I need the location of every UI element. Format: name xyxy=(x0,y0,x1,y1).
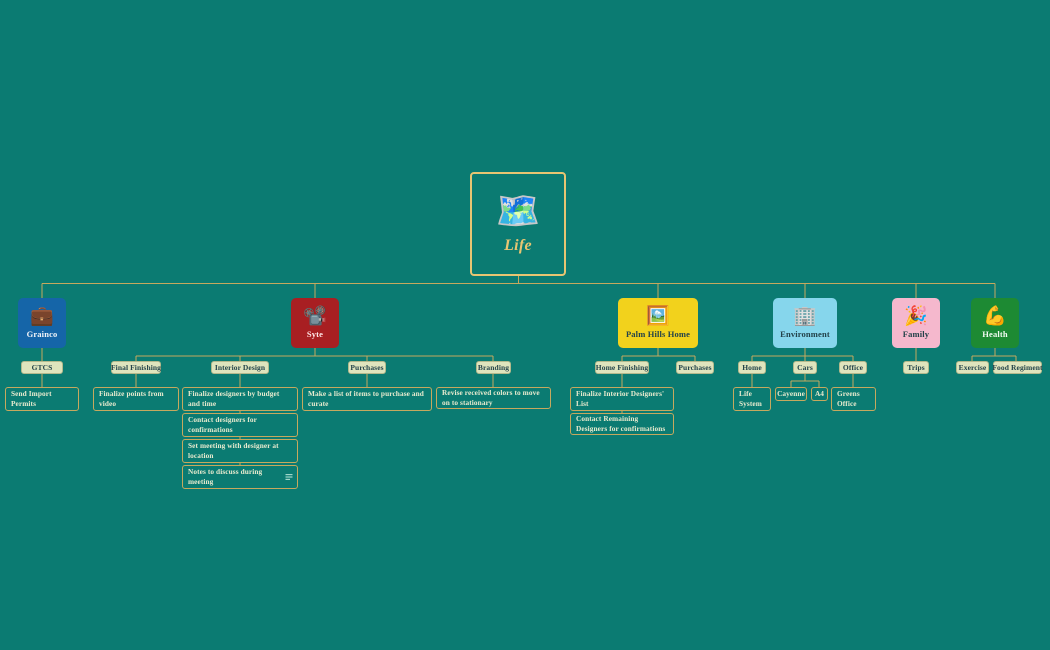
sub-node-home-finishing[interactable]: Home Finishing xyxy=(595,361,649,374)
branch-label: Palm Hills Home xyxy=(626,329,690,339)
leaf-node-make-list-items-purchase[interactable]: Make a list of items to purchase and cur… xyxy=(302,387,432,411)
sub-node-label: Food Regiment xyxy=(992,363,1042,372)
leaf-node-a4[interactable]: A4 xyxy=(811,387,828,401)
world-map-icon: 🗺️ xyxy=(496,193,541,229)
sub-node-label: Trips xyxy=(907,363,924,372)
root-node-life[interactable]: 🗺️ Life xyxy=(470,172,566,276)
sub-node-gtcs[interactable]: GTCS xyxy=(21,361,63,374)
branch-label: Grainco xyxy=(27,329,58,339)
sub-node-label: Office xyxy=(843,363,863,372)
film-projector-icon: 📽️ xyxy=(303,307,327,326)
leaf-node-label: Cayenne xyxy=(777,389,805,399)
leaf-node-revise-received-colors[interactable]: Revise received colors to move on to sta… xyxy=(436,387,551,409)
sub-node-branding[interactable]: Branding xyxy=(476,361,511,374)
sub-node-label: Branding xyxy=(478,363,509,372)
leaf-node-label: Make a list of items to purchase and cur… xyxy=(308,389,426,409)
leaf-node-send-import-permits[interactable]: Send Import Permits xyxy=(5,387,79,411)
sub-node-label: Interior Design xyxy=(215,363,265,372)
flexed-biceps-icon: 💪 xyxy=(983,307,1007,326)
office-building-icon: 🏢 xyxy=(793,307,817,326)
branch-node-syte[interactable]: 📽️ Syte xyxy=(291,298,339,348)
branch-label: Family xyxy=(903,329,929,339)
mindmap-canvas: 🗺️ Life 💼 Grainco GTCS Send Import Permi… xyxy=(0,0,1050,650)
leaf-node-label: Set meeting with designer at location xyxy=(188,441,292,461)
leaf-node-life-system[interactable]: Life System xyxy=(733,387,771,411)
sub-node-label: Home Finishing xyxy=(596,363,648,372)
leaf-node-label: Finalize points from video xyxy=(99,389,173,409)
branch-label: Health xyxy=(982,329,1007,339)
sub-node-cars[interactable]: Cars xyxy=(793,361,817,374)
leaf-node-label: Contact designers for confirmations xyxy=(188,415,292,435)
leaf-node-cayenne[interactable]: Cayenne xyxy=(775,387,807,401)
sub-node-final-finishing[interactable]: Final Finishing xyxy=(111,361,161,374)
branch-label: Environment xyxy=(780,329,830,339)
sub-node-label: Home xyxy=(742,363,762,372)
sub-node-label: Final Finishing xyxy=(111,363,161,372)
branch-node-family[interactable]: 🎉 Family xyxy=(892,298,940,348)
root-node-label: Life xyxy=(504,237,532,255)
party-popper-icon: 🎉 xyxy=(904,307,928,326)
sub-node-label: Purchases xyxy=(350,363,383,372)
branch-node-palm-hills-home[interactable]: 🖼️ Palm Hills Home xyxy=(618,298,698,348)
leaf-node-label: Send Import Permits xyxy=(11,389,73,409)
leaf-node-label: Finalize Interior Designers' List xyxy=(576,389,668,409)
sub-node-office[interactable]: Office xyxy=(839,361,867,374)
leaf-node-finalize-interior-designers-list[interactable]: Finalize Interior Designers' List xyxy=(570,387,674,411)
briefcase-icon: 💼 xyxy=(30,307,54,326)
branch-label: Syte xyxy=(307,329,323,339)
leaf-node-finalize-designers-budget-time[interactable]: Finalize designers by budget and time xyxy=(182,387,298,411)
leaf-node-label: A4 xyxy=(815,389,824,399)
note-lines-icon xyxy=(285,473,292,480)
sub-node-interior-design[interactable]: Interior Design xyxy=(211,361,269,374)
leaf-node-contact-designers-confirmations[interactable]: Contact designers for confirmations xyxy=(182,413,298,437)
sub-node-exercise[interactable]: Exercise xyxy=(956,361,989,374)
leaf-node-set-meeting-with-designer[interactable]: Set meeting with designer at location xyxy=(182,439,298,463)
sub-node-purchases-syte[interactable]: Purchases xyxy=(348,361,386,374)
leaf-node-label: Life System xyxy=(739,389,765,409)
leaf-node-label: Contact Remaining Designers for confirma… xyxy=(576,414,668,434)
sub-node-purchases-palm-hills[interactable]: Purchases xyxy=(676,361,714,374)
leaf-node-contact-remaining-designers[interactable]: Contact Remaining Designers for confirma… xyxy=(570,413,674,435)
leaf-node-finalize-points-from-video[interactable]: Finalize points from video xyxy=(93,387,179,411)
branch-node-environment[interactable]: 🏢 Environment xyxy=(773,298,837,348)
leaf-node-label: Greens Office xyxy=(837,389,870,409)
sub-node-food-regiment[interactable]: Food Regiment xyxy=(993,361,1042,374)
leaf-node-notes-to-discuss[interactable]: Notes to discuss during meeting xyxy=(182,465,298,489)
framed-picture-icon: 🖼️ xyxy=(646,307,670,326)
sub-node-label: Exercise xyxy=(959,363,987,372)
sub-node-label: GTCS xyxy=(32,363,53,372)
leaf-node-greens-office[interactable]: Greens Office xyxy=(831,387,876,411)
branch-node-health[interactable]: 💪 Health xyxy=(971,298,1019,348)
sub-node-label: Purchases xyxy=(678,363,711,372)
branch-node-grainco[interactable]: 💼 Grainco xyxy=(18,298,66,348)
sub-node-label: Cars xyxy=(797,363,813,372)
sub-node-home[interactable]: Home xyxy=(738,361,766,374)
leaf-node-label: Revise received colors to move on to sta… xyxy=(442,388,545,408)
leaf-node-label: Finalize designers by budget and time xyxy=(188,389,292,409)
sub-node-trips[interactable]: Trips xyxy=(903,361,929,374)
leaf-node-label: Notes to discuss during meeting xyxy=(188,467,279,487)
